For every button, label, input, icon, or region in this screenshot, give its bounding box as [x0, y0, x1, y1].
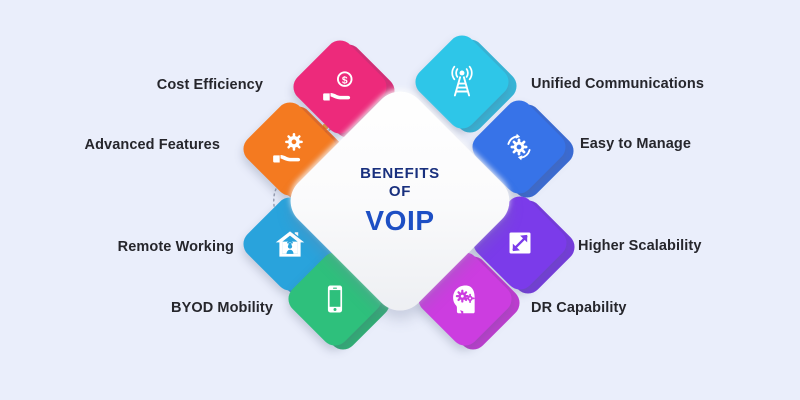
label-easy-to-manage: Easy to Manage: [580, 136, 691, 152]
label-advanced-features: Advanced Features: [85, 137, 220, 153]
label-byod-mobility: BYOD Mobility: [171, 300, 273, 316]
node-unified-communications[interactable]: [425, 45, 499, 119]
label-cost-efficiency: Cost Efficiency: [157, 77, 263, 93]
infographic-canvas: BENEFITS OF VOIP $ Cost Efficiency: [0, 0, 800, 400]
label-higher-scalability: Higher Scalability: [578, 238, 701, 254]
label-unified-communications: Unified Communications: [531, 76, 704, 92]
svg-text:$: $: [342, 75, 348, 86]
label-dr-capability: DR Capability: [531, 300, 627, 316]
broadcast-tower-icon: [425, 45, 499, 119]
label-remote-working: Remote Working: [118, 239, 234, 255]
